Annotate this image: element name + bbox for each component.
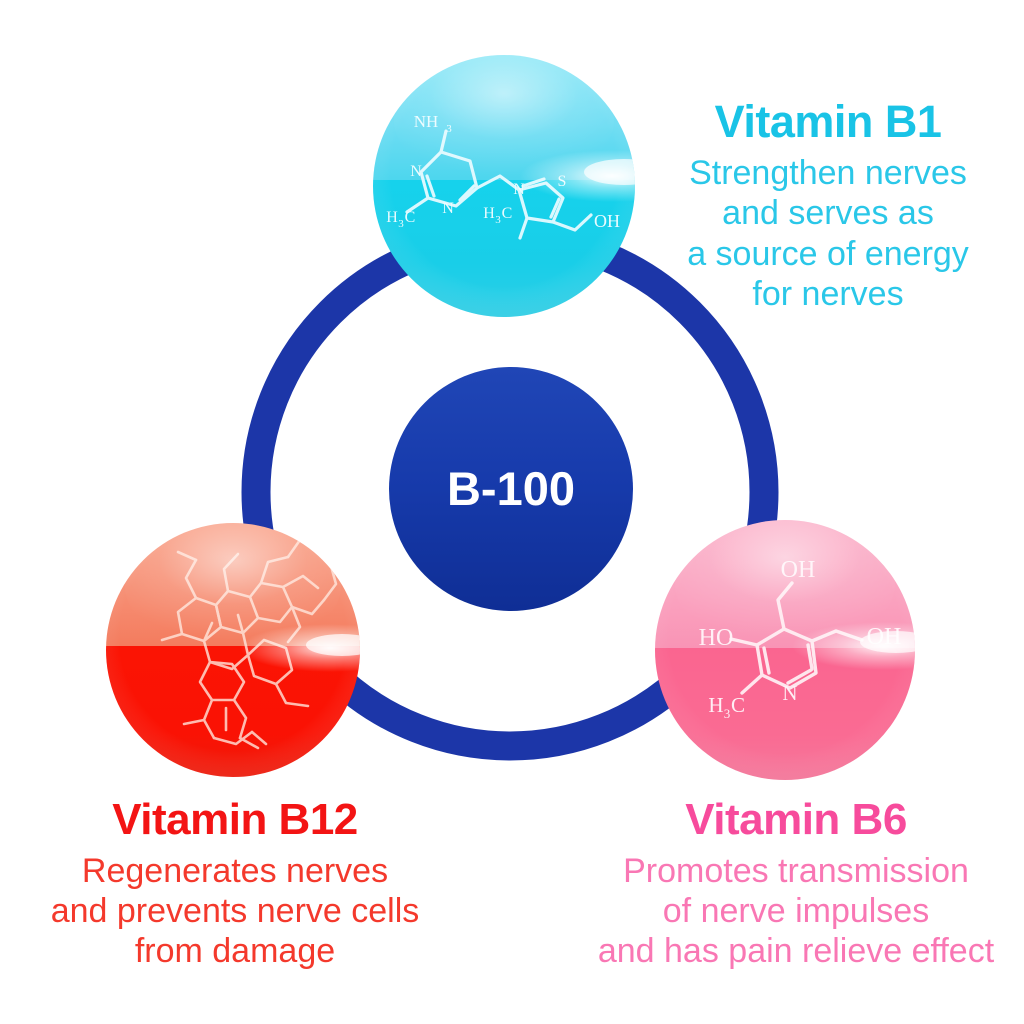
center-badge-circle[interactable] <box>389 367 633 611</box>
vitamin-b12-description: Regenerates nerves and prevents nerve ce… <box>12 851 458 971</box>
vitamin-b6-description: Promotes transmission of nerve impulses … <box>572 851 1020 971</box>
vitamin-b1-text-block: Vitamin B1 Strengthen nerves and serves … <box>636 96 1020 314</box>
vitamin-b6-desc-line: Promotes transmission <box>572 851 1020 891</box>
vitamin-b6-title: Vitamin B6 <box>572 795 1020 845</box>
vitamin-b12-text-block: Vitamin B12 Regenerates nerves and preve… <box>12 795 458 971</box>
vitamin-b12-title: Vitamin B12 <box>12 795 458 845</box>
vitamin-b1-desc-line: for nerves <box>636 274 1020 314</box>
vitamin-b12-desc-line: from damage <box>12 931 458 971</box>
vitamin-b6-text-block: Vitamin B6 Promotes transmission of nerv… <box>572 795 1020 971</box>
vitamin-b6-desc-line: of nerve impulses <box>572 891 1020 931</box>
vitamin-b1-desc-line: Strengthen nerves <box>636 153 1020 193</box>
vitamin-b12-desc-line: and prevents nerve cells <box>12 891 458 931</box>
vitamin-b12-desc-line: Regenerates nerves <box>12 851 458 891</box>
vitamin-b1-desc-line: a source of energy <box>636 234 1020 274</box>
vitamin-b1-title: Vitamin B1 <box>636 96 1020 147</box>
vitamin-b6-desc-line: and has pain relieve effect <box>572 931 1020 971</box>
vitamin-b1-description: Strengthen nerves and serves as a source… <box>636 153 1020 313</box>
infographic-canvas: NH 3 N N N S H 3 C H 3 C OH <box>0 0 1024 1024</box>
vitamin-b1-desc-line: and serves as <box>636 193 1020 233</box>
